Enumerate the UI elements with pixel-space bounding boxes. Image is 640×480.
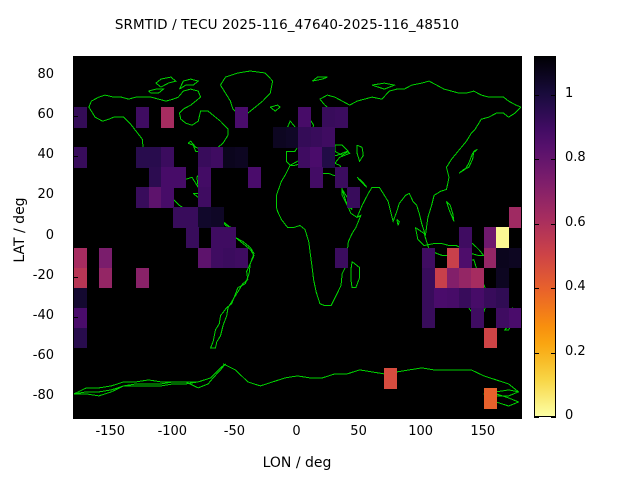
heatmap-cell [74,147,87,168]
heatmap-cell [496,227,509,248]
heatmap-cell [149,187,162,208]
x-tick-label: 0 [292,424,300,439]
x-tick-mark [172,412,173,417]
heatmap-cell [422,268,435,289]
x-tick-label: -150 [95,424,125,439]
heatmap-cell [136,107,149,128]
y-tick-mark [73,76,78,77]
y-tick-label: 0 [46,228,54,243]
heatmap-cell [74,248,87,269]
heatmap-cell [173,207,186,228]
colorbar-tick-mark [551,417,556,418]
heatmap-cell [496,268,509,289]
y-axis-label: LAT / deg [12,170,28,290]
y-tick-label: 60 [37,107,54,122]
heatmap-cell [161,147,174,168]
heatmap-cell [459,288,472,309]
x-tick-label: -50 [224,424,245,439]
colorbar-tick-mark [534,95,539,96]
heatmap-cell [509,248,522,269]
heatmap-cell [235,107,248,128]
heatmap-cell [310,167,323,188]
colorbar-tick-label: 0.2 [565,344,586,359]
heatmap-cell [447,248,460,269]
y-tick-mark [73,277,78,278]
heatmap-cell [335,107,348,128]
heatmap-cell [322,107,335,128]
y-tick-label: -40 [33,308,54,323]
heatmap-cell [74,288,87,309]
heatmap-cell [422,308,435,329]
heatmap-cell [99,248,112,269]
heatmap-cell [471,268,484,289]
heatmap-cell [235,248,248,269]
x-tick-label: 150 [470,424,495,439]
heatmap-cell [422,248,435,269]
heatmap-cell [496,248,509,269]
heatmap-cell [161,187,174,208]
heatmap-cell [434,288,447,309]
heatmap-cell [186,227,199,248]
colorbar-tick-mark [534,224,539,225]
x-tick-mark [110,412,111,417]
heatmap-cell [298,107,311,128]
heatmap-cell [136,268,149,289]
x-tick-mark [297,412,298,417]
heatmap-cell [173,167,186,188]
heatmap-cell [74,328,87,349]
colorbar-tick-mark [534,159,539,160]
heatmap-cell [459,227,472,248]
y-tick-mark [73,196,78,197]
colorbar-tick-mark [551,288,556,289]
colorbar-tick-label: 1 [565,86,573,101]
heatmap-cell [322,147,335,168]
heatmap-cell [223,227,236,248]
heatmap-cell [347,187,360,208]
heatmap-cell [447,288,460,309]
heatmap-cell [211,147,224,168]
heatmap-cell [198,147,211,168]
colorbar[interactable] [534,56,556,417]
heatmap-cell [74,308,87,329]
heatmap-cell [161,167,174,188]
heatmap-cell [384,368,397,389]
heatmap-cell-layer [74,57,521,418]
x-tick-label: -100 [158,424,188,439]
colorbar-tick-mark [551,95,556,96]
heatmap-cell [509,308,522,329]
colorbar-tick-mark [551,353,556,354]
colorbar-tick-label: 0.6 [565,215,586,230]
heatmap-cell [74,107,87,128]
heatmap-cell [471,308,484,329]
heatmap-cell [211,207,224,228]
heatmap-cell [149,147,162,168]
x-tick-mark [359,412,360,417]
x-axis-label: LON / deg [0,455,594,471]
y-tick-mark [73,357,78,358]
heatmap-plot-area[interactable] [73,56,522,419]
heatmap-cell [322,127,335,148]
y-tick-label: 20 [37,187,54,202]
colorbar-tick-label: 0.4 [565,279,586,294]
y-tick-label: -20 [33,268,54,283]
x-tick-label: 50 [350,424,367,439]
heatmap-cell [298,127,311,148]
figure-canvas: SRMTID / TECU 2025-116_47640-2025-116_48… [0,0,640,480]
heatmap-cell [484,248,497,269]
heatmap-cell [211,248,224,269]
heatmap-cell [136,147,149,168]
y-tick-mark [73,237,78,238]
heatmap-cell [310,147,323,168]
colorbar-tick-label: 0.8 [565,150,586,165]
colorbar-tick-mark [534,353,539,354]
heatmap-cell [459,268,472,289]
heatmap-cell [211,227,224,248]
heatmap-cell [459,248,472,269]
heatmap-cell [161,107,174,128]
heatmap-cell [198,167,211,188]
colorbar-tick-mark [534,288,539,289]
heatmap-cell [235,147,248,168]
heatmap-cell [484,388,497,409]
colorbar-tick-mark [534,417,539,418]
heatmap-cell [298,147,311,168]
y-tick-mark [73,397,78,398]
heatmap-cell [471,288,484,309]
heatmap-cell [223,147,236,168]
heatmap-cell [198,248,211,269]
x-tick-mark [234,412,235,417]
heatmap-cell [273,127,286,148]
x-tick-mark [483,412,484,417]
heatmap-cell [99,268,112,289]
y-tick-label: 40 [37,147,54,162]
heatmap-cell [149,167,162,188]
colorbar-tick-mark [551,159,556,160]
heatmap-cell [136,187,149,208]
colorbar-tick-label: 0 [565,408,573,423]
heatmap-cell [484,227,497,248]
y-tick-label: -80 [33,388,54,403]
heatmap-cell [310,127,323,148]
heatmap-cell [248,167,261,188]
heatmap-cell [496,288,509,309]
heatmap-cell [484,288,497,309]
y-tick-mark [73,116,78,117]
heatmap-cell [335,248,348,269]
colorbar-gradient [535,57,555,416]
heatmap-cell [422,288,435,309]
heatmap-cell [496,308,509,329]
x-tick-label: 100 [408,424,433,439]
page-title: SRMTID / TECU 2025-116_47640-2025-116_48… [0,17,574,33]
colorbar-tick-mark [551,224,556,225]
heatmap-cell [484,328,497,349]
heatmap-cell [74,268,87,289]
y-tick-label: -60 [33,348,54,363]
heatmap-cell [186,207,199,228]
y-tick-mark [73,156,78,157]
heatmap-cell [198,207,211,228]
y-tick-mark [73,317,78,318]
heatmap-cell [335,167,348,188]
heatmap-cell [198,187,211,208]
x-tick-mark [421,412,422,417]
y-tick-label: 80 [37,67,54,82]
heatmap-cell [509,207,522,228]
heatmap-cell [285,127,298,148]
heatmap-cell [223,248,236,269]
heatmap-cell [434,268,447,289]
heatmap-cell [447,268,460,289]
